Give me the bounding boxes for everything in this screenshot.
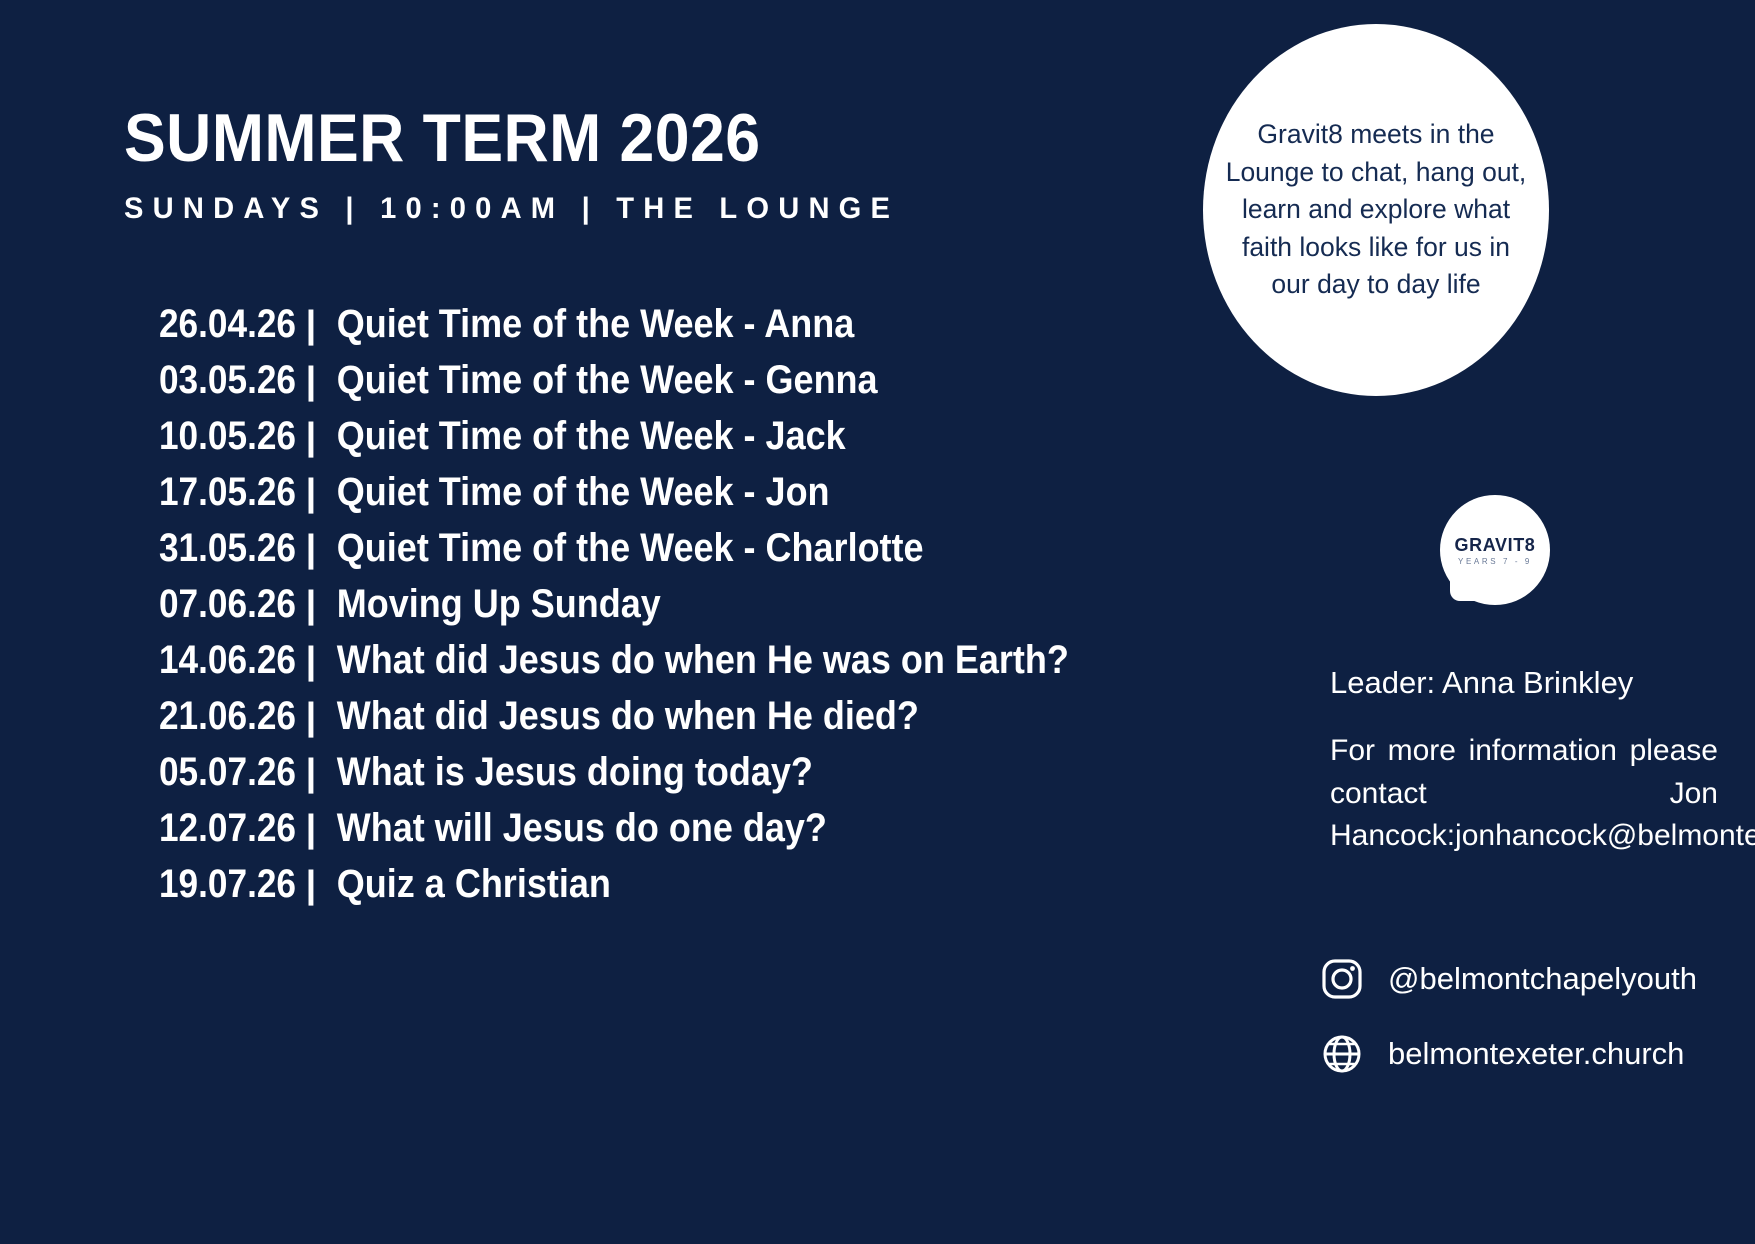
schedule-row-date: 17.05.26: [145, 464, 296, 520]
poster-canvas: SUMMER TERM 2026 SUNDAYS | 10:00AM | THE…: [0, 0, 1755, 1244]
contact-info: For more information please contact Jon …: [1330, 730, 1718, 858]
schedule-row: 17.05.26|Quiet Time of the Week - Jon: [124, 464, 1184, 520]
schedule-row-date: 10.05.26: [145, 408, 296, 464]
schedule-row-title: Quiz a Christian: [326, 856, 611, 912]
schedule-row: 12.07.26|What will Jesus do one day?: [124, 800, 1184, 856]
schedule-row-separator: |: [296, 409, 326, 465]
schedule-row-separator: |: [296, 521, 326, 577]
schedule-row-title: Quiet Time of the Week - Jack: [326, 408, 846, 464]
schedule-row-title: Quiet Time of the Week - Genna: [326, 352, 878, 408]
website-url: belmontexeter.church: [1388, 1036, 1684, 1072]
schedule-row-date: 03.05.26: [145, 352, 296, 408]
schedule-row-separator: |: [296, 577, 326, 633]
schedule-row-separator: |: [296, 689, 326, 745]
schedule-row-date: 21.06.26: [145, 688, 296, 744]
main-content-column: SUMMER TERM 2026 SUNDAYS | 10:00AM | THE…: [124, 104, 1184, 912]
schedule-row-date: 19.07.26: [145, 856, 296, 912]
schedule-row: 03.05.26|Quiet Time of the Week - Genna: [124, 352, 1184, 408]
schedule-row-date: 26.04.26: [145, 296, 296, 352]
info-circle-callout: Gravit8 meets in the Lounge to chat, han…: [1203, 24, 1549, 396]
schedule-row-title: What did Jesus do when He died?: [326, 688, 919, 744]
info-circle-text: Gravit8 meets in the Lounge to chat, han…: [1225, 116, 1527, 304]
schedule-row-separator: |: [296, 745, 326, 801]
schedule-row-date: 31.05.26: [145, 520, 296, 576]
page-title: SUMMER TERM 2026: [124, 104, 1099, 172]
globe-icon: [1318, 1030, 1366, 1078]
schedule-row-date: 12.07.26: [145, 800, 296, 856]
schedule-row-separator: |: [296, 857, 326, 913]
schedule-row: 26.04.26|Quiet Time of the Week - Anna: [124, 296, 1184, 352]
schedule-row-title: What will Jesus do one day?: [326, 800, 827, 856]
schedule-row: 10.05.26|Quiet Time of the Week - Jack: [124, 408, 1184, 464]
schedule-row-separator: |: [296, 633, 326, 689]
schedule-row: 19.07.26|Quiz a Christian: [124, 856, 1184, 912]
social-link-website[interactable]: belmontexeter.church: [1318, 1030, 1684, 1078]
schedule-row-title: Quiet Time of the Week - Jon: [326, 464, 830, 520]
schedule-row-title: Quiet Time of the Week - Anna: [326, 296, 854, 352]
schedule-row-date: 07.06.26: [145, 576, 296, 632]
schedule-row-separator: |: [296, 801, 326, 857]
social-link-instagram[interactable]: @belmontchapelyouth: [1318, 955, 1697, 1003]
schedule-row: 07.06.26|Moving Up Sunday: [124, 576, 1184, 632]
page-subtitle: SUNDAYS | 10:00AM | THE LOUNGE: [124, 192, 1152, 226]
logo-wordmark: GRAVIT8: [1440, 535, 1550, 556]
schedule-row-separator: |: [296, 297, 326, 353]
schedule-row-title: Moving Up Sunday: [326, 576, 661, 632]
schedule-row-separator: |: [296, 353, 326, 409]
schedule-row-title: Quiet Time of the Week - Charlotte: [326, 520, 924, 576]
leader-name: Leader: Anna Brinkley: [1330, 665, 1720, 701]
schedule-row-date: 05.07.26: [145, 744, 296, 800]
schedule-row: 21.06.26|What did Jesus do when He died?: [124, 688, 1184, 744]
schedule-row-title: What is Jesus doing today?: [326, 744, 813, 800]
instagram-handle: @belmontchapelyouth: [1388, 961, 1697, 997]
gravit8-logo: GRAVIT8 YEARS 7 - 9: [1440, 495, 1562, 617]
schedule-row-date: 14.06.26: [145, 632, 296, 688]
schedule-row-title: What did Jesus do when He was on Earth?: [326, 632, 1069, 688]
schedule-list: 26.04.26|Quiet Time of the Week - Anna03…: [124, 296, 1184, 912]
schedule-row-separator: |: [296, 465, 326, 521]
instagram-icon: [1318, 955, 1366, 1003]
schedule-row: 14.06.26|What did Jesus do when He was o…: [124, 632, 1184, 688]
logo-tagline: YEARS 7 - 9: [1440, 557, 1550, 566]
schedule-row: 05.07.26|What is Jesus doing today?: [124, 744, 1184, 800]
schedule-row: 31.05.26|Quiet Time of the Week - Charlo…: [124, 520, 1184, 576]
